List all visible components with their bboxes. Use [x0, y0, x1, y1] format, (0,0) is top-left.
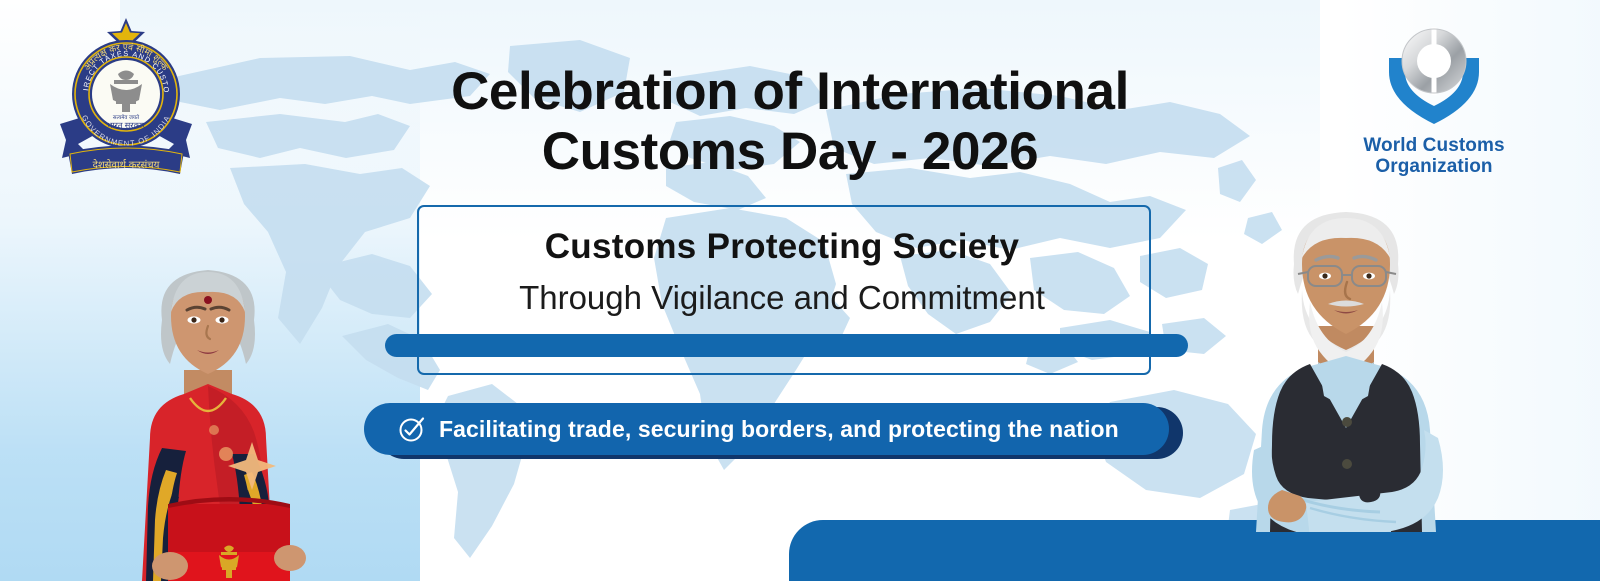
theme-accent-bar	[385, 334, 1188, 357]
wco-logo-icon	[1348, 24, 1520, 134]
finance-minister-portrait	[58, 258, 358, 581]
svg-text:देशसेवार्थ करसंचय: देशसेवार्थ करसंचय	[93, 159, 160, 171]
tagline-text: Facilitating trade, securing borders, an…	[439, 416, 1119, 442]
prime-minister-portrait	[1190, 198, 1508, 532]
cbic-emblem-icon: अप्रत्यक्ष कर एवं सीमा शुल्क INDIRECT TA…	[52, 12, 200, 192]
check-circle-icon	[398, 415, 426, 443]
wco-line-1: World Customs	[1348, 135, 1520, 156]
customs-day-banner: अप्रत्यक्ष कर एवं सीमा शुल्क INDIRECT TA…	[0, 0, 1600, 581]
headline-line-2: Customs Day - 2026	[390, 122, 1190, 182]
wco-line-2: Organization	[1348, 156, 1520, 177]
wco-logo: World Customs Organization	[1348, 24, 1520, 192]
svg-text:भारत सरकार: भारत सरकार	[107, 121, 146, 130]
wco-logo-text: World Customs Organization	[1348, 135, 1520, 177]
svg-text:सत्यमेव जयते: सत्यमेव जयते	[113, 114, 140, 121]
tagline-pill: Facilitating trade, securing borders, an…	[364, 403, 1169, 455]
theme-main-text: Customs Protecting Society	[417, 225, 1147, 269]
headline-line-1: Celebration of International	[451, 62, 1129, 121]
theme-sub-text: Through Vigilance and Commitment	[417, 277, 1147, 319]
page-title: Celebration of International Customs Day…	[390, 62, 1190, 182]
